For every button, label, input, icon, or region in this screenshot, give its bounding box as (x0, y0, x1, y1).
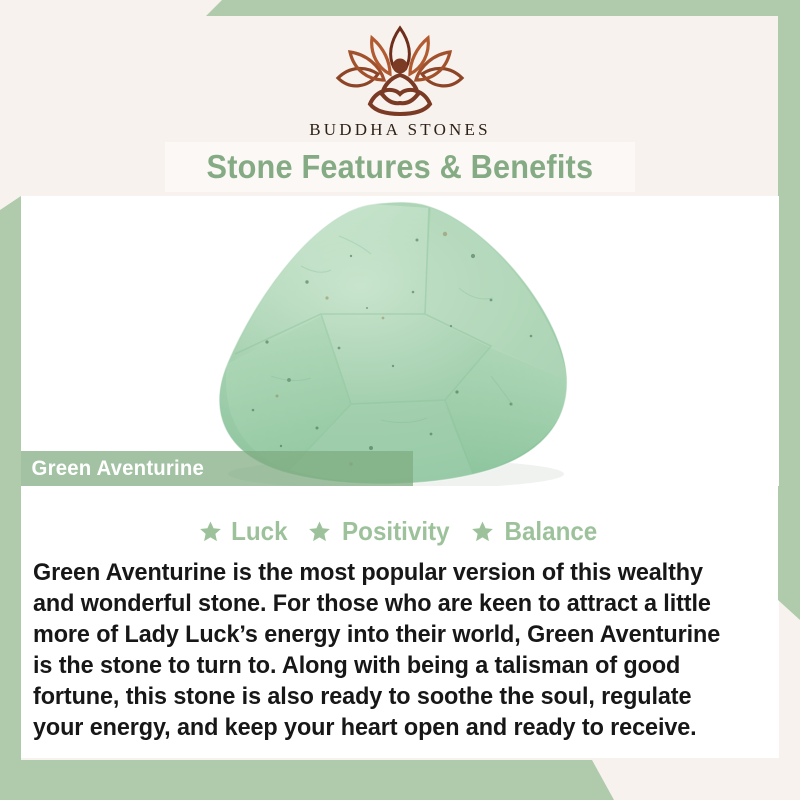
page-title: Stone Features & Benefits (207, 148, 594, 186)
benefit-item: Luck (199, 516, 290, 547)
stone-description: Green Aventurine is the most popular ver… (33, 557, 742, 743)
stone-name-label: Green Aventurine (24, 457, 204, 481)
stone-photo (21, 196, 779, 486)
star-icon (308, 520, 331, 543)
stone-body (171, 196, 621, 486)
benefit-label: Positivity (342, 516, 450, 547)
star-icon (199, 520, 222, 543)
lotus-meditation-figure-icon (320, 22, 480, 116)
brand-logo: BUDDHA STONES (0, 22, 800, 140)
benefit-item: Balance (471, 516, 601, 547)
title-banner: Stone Features & Benefits (165, 142, 635, 192)
infographic-page: BUDDHA STONES Stone Features & Benefits … (0, 0, 800, 800)
brand-name: BUDDHA STONES (0, 120, 800, 140)
frame-bottom-band (0, 760, 800, 800)
frame-left-band (0, 196, 21, 800)
star-icon (471, 520, 494, 543)
benefit-label: Luck (231, 516, 287, 547)
benefits-row: Luck Positivity Balance (21, 516, 779, 547)
stone-image-wrap (21, 196, 779, 486)
stone-name-band: Green Aventurine (21, 451, 413, 486)
benefit-label: Balance (505, 516, 598, 547)
green-aventurine-stone-illustration (21, 196, 779, 486)
benefit-item: Positivity (308, 516, 454, 547)
